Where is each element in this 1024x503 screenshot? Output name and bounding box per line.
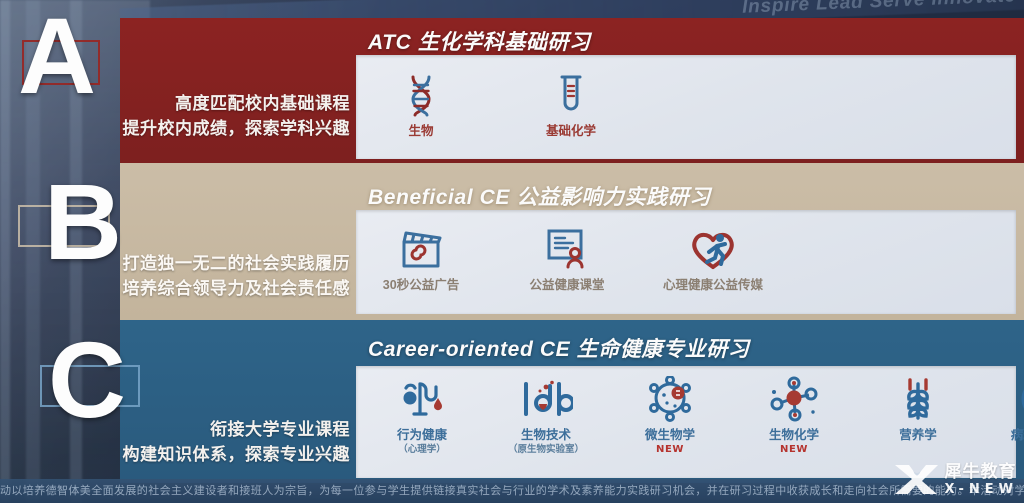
level-caption-b: 打造独一无二的社会实践履历 培养综合领导力及社会责任感 [70, 252, 350, 301]
level-letter-a: A [18, 6, 96, 105]
course-item[interactable]: 公益健康课堂 [518, 220, 616, 293]
watermark-text: 犀牛教育 X-NEW [945, 463, 1018, 496]
molecule-icon [768, 372, 820, 422]
course-item[interactable]: 心理健康公益传媒 [664, 220, 762, 293]
lab-flask-icon [519, 372, 573, 422]
course-label: 微生物学 [645, 428, 695, 443]
bottom-marquee-text: 动以培养德智体美全面发展的社会主义建设者和接班人为宗旨，为每一位参与学生提供链接… [0, 479, 1024, 503]
section-title-c: Career-oriented CE 生命健康专业研习 [368, 333, 749, 363]
course-item[interactable]: 营养学 [866, 372, 970, 456]
level-caption-a: 高度匹配校内基础课程 提升校内成绩，探索学科兴趣 [100, 92, 350, 141]
section-title-a: ATC 生化学科基础研习 [368, 26, 591, 56]
course-item[interactable]: 基础化学 [522, 66, 620, 139]
course-label: 病理生理学 [1011, 428, 1024, 443]
course-label: 营养学 [899, 428, 937, 443]
stethoscope-blood-icon [398, 372, 446, 422]
course-item[interactable]: 行为健康 （心理学） [370, 372, 474, 456]
wheat-icon [895, 372, 941, 422]
level-caption-c: 衔接大学专业课程 构建知识体系，探索专业兴趣 [120, 418, 350, 467]
course-item[interactable]: 病理生理学 [990, 372, 1024, 456]
caption-b-line1: 打造独一无二的社会实践履历 [70, 252, 350, 277]
level-letter-c: C [48, 330, 126, 429]
section-title-b: Beneficial CE 公益影响力实践研习 [368, 181, 711, 211]
test-tube-icon [551, 66, 591, 118]
presentation-board-icon [542, 220, 592, 272]
watermark-cn: 犀牛教育 [945, 463, 1018, 480]
heart-runner-icon [687, 220, 739, 272]
course-sublabel: （原生物实验室） [508, 444, 584, 456]
course-label: 生物 [408, 124, 433, 139]
course-label: 30秒公益广告 [383, 278, 459, 293]
course-item[interactable]: 生物技术 （原生物实验室） [494, 372, 598, 456]
course-label: 生物化学 [769, 428, 819, 443]
x-logo-icon [893, 461, 939, 497]
watermark: 犀牛教育 X-NEW [893, 461, 1018, 497]
new-badge: NEW [656, 444, 684, 455]
course-sublabel: （心理学） [398, 444, 446, 456]
dna-helix-icon [401, 66, 441, 118]
course-label: 基础化学 [546, 124, 596, 139]
course-item[interactable]: 30秒公益广告 [372, 220, 470, 293]
caption-b-line2: 培养综合领导力及社会责任感 [70, 277, 350, 302]
icon-row-b: 30秒公益广告 公益健康课堂 [372, 220, 762, 293]
course-item[interactable]: 生物 [372, 66, 470, 139]
course-label: 公益健康课堂 [529, 278, 604, 293]
caption-c-line2: 构建知识体系，探索专业兴趣 [120, 443, 350, 468]
course-label: 生物技术 [521, 428, 571, 443]
microbe-icon [645, 372, 695, 422]
caption-c-line1: 衔接大学专业课程 [120, 418, 350, 443]
caption-a-line2: 提升校内成绩，探索学科兴趣 [100, 117, 350, 142]
letter-c-glyph: C [48, 330, 126, 429]
course-item[interactable]: 微生物学 NEW [618, 372, 722, 456]
slide-root: Inspire Lead Serve Innovate SKT A 高度匹配校内… [0, 0, 1024, 503]
new-badge: NEW [780, 444, 808, 455]
course-label: 心理健康公益传媒 [663, 278, 763, 293]
course-item[interactable]: 生物化学 NEW [742, 372, 846, 456]
watermark-en: X-NEW [945, 483, 1018, 496]
cell-icon [1018, 372, 1024, 422]
icon-row-c: 行为健康 （心理学） 生物技 [370, 372, 1024, 456]
course-label: 行为健康 [397, 428, 447, 443]
icon-row-a: 生物 基础化学 [372, 66, 620, 139]
letter-a-glyph: A [18, 6, 96, 105]
clapperboard-icon [396, 220, 446, 272]
caption-a-line1: 高度匹配校内基础课程 [100, 92, 350, 117]
